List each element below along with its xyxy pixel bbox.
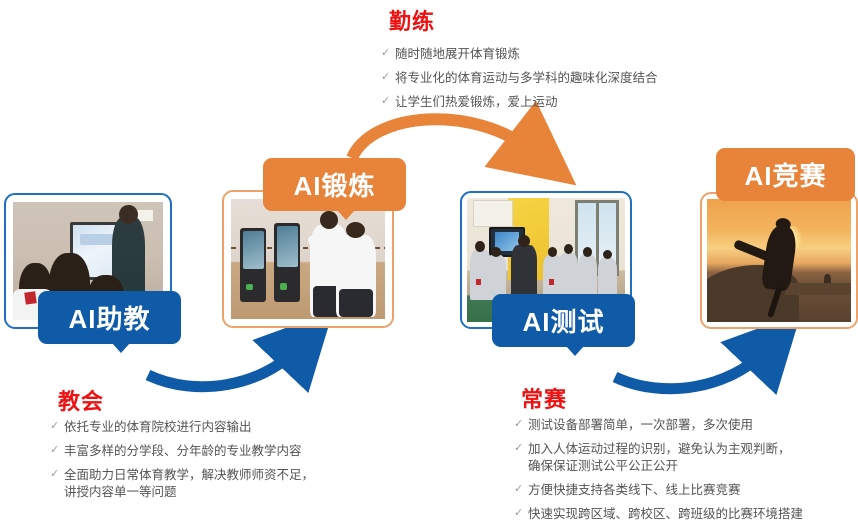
list-item: ✓ 丰富多样的分学段、分年龄的专业教学内容 <box>50 443 350 460</box>
arrow-duanlian-to-ceshi <box>352 119 531 158</box>
badge-label-ceshi: AI测试 <box>522 302 604 339</box>
check-icon: ✓ <box>514 417 528 433</box>
badge-label-duanlian: AI锻炼 <box>293 166 375 203</box>
badge-ai-zhujiao[interactable]: AI助教 <box>38 291 181 344</box>
check-icon: ✓ <box>50 443 64 459</box>
badge-label-zhujiao: AI助教 <box>68 299 150 336</box>
badge-tail-zhujiao <box>112 343 130 353</box>
check-icon: ✓ <box>381 70 395 86</box>
heading-qinlian: 勤练 <box>389 4 435 36</box>
check-icon: ✓ <box>514 506 528 522</box>
photo-skateboarder-sunset <box>707 199 851 322</box>
list-item: ✓ 测试设备部署简单，一次部署，多次使用 <box>514 417 854 434</box>
list-item: ✓ 加入人体运动过程的识别，避免认为主观判断， 确保保证测试公平公正公开 <box>514 441 854 475</box>
check-icon: ✓ <box>514 441 528 457</box>
list-item: ✓ 方便快捷支持各类线下、线上比赛竞赛 <box>514 482 854 499</box>
check-icon: ✓ <box>381 94 395 110</box>
list-item: ✓ 全面助力日常体育教学，解决教师师资不足， 讲授内容单一等问题 <box>50 467 350 501</box>
check-icon: ✓ <box>50 467 64 483</box>
bullets-changsai: ✓ 测试设备部署简单，一次部署，多次使用 ✓ 加入人体运动过程的识别，避免认为主… <box>514 417 854 529</box>
badge-ai-ceshi[interactable]: AI测试 <box>492 294 635 347</box>
check-icon: ✓ <box>514 482 528 498</box>
badge-ai-duanlian[interactable]: AI锻炼 <box>263 158 406 211</box>
heading-jiaohui: 教会 <box>58 384 104 416</box>
badge-tail-ceshi <box>566 346 584 356</box>
check-icon: ✓ <box>50 419 64 435</box>
list-item: ✓ 将专业化的体育运动与多学科的趣味化深度结合 <box>381 70 711 87</box>
badge-ai-jingsai[interactable]: AI竞赛 <box>716 148 855 201</box>
infographic-canvas: AI助教 AI锻炼 AI测试 AI竞赛 勤练 ✓ 随时随地展开体育锻炼 ✓ 将专… <box>0 0 858 523</box>
list-item: ✓ 随时随地展开体育锻炼 <box>381 46 711 63</box>
photo-gym-ai-kiosk <box>231 199 385 319</box>
list-item: ✓ 依托专业的体育院校进行内容输出 <box>50 419 350 436</box>
badge-label-jingsai: AI竞赛 <box>744 156 826 193</box>
check-icon: ✓ <box>381 46 395 62</box>
arrow-ceshi-to-jingsai <box>615 351 765 389</box>
list-item: ✓ 让学生们热爱锻炼，爱上运动 <box>381 94 711 111</box>
heading-changsai: 常赛 <box>521 382 567 414</box>
list-item: ✓ 快速实现跨区域、跨校区、跨班级的比赛环境搭建 <box>514 506 854 523</box>
bullets-jiaohui: ✓ 依托专业的体育院校进行内容输出 ✓ 丰富多样的分学段、分年龄的专业教学内容 … <box>50 419 350 508</box>
badge-tail-duanlian <box>337 210 355 220</box>
bullets-qinlian: ✓ 随时随地展开体育锻炼 ✓ 将专业化的体育运动与多学科的趣味化深度结合 ✓ 让… <box>381 46 711 118</box>
arrow-zhujiao-to-duanlian <box>148 349 297 387</box>
photo-card-jingsai <box>700 192 858 329</box>
